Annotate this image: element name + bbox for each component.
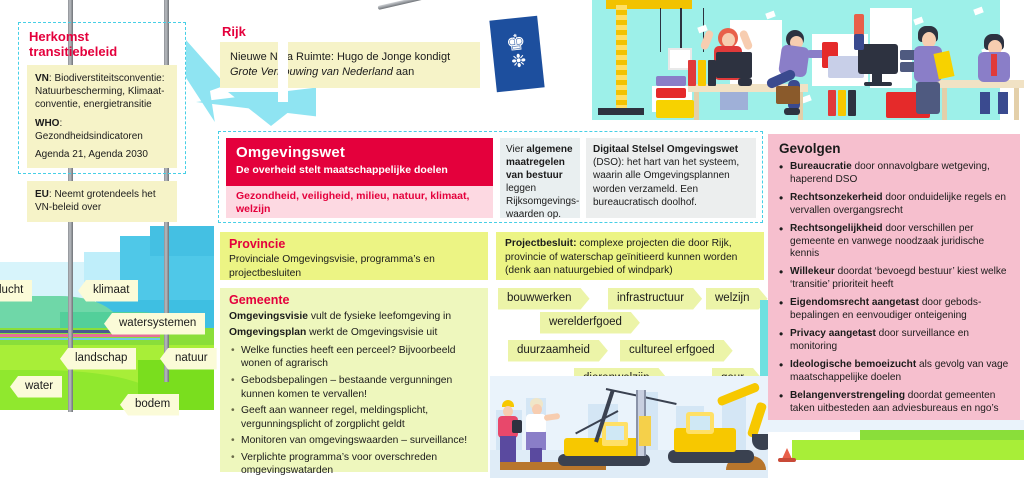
person-2-shoe-back <box>738 78 752 86</box>
provincie-title: Provincie <box>229 237 479 251</box>
omgevingswet-heading: Omgevingswet <box>236 144 483 161</box>
herkomst-agenda-line: Agenda 21, Agenda 2030 <box>35 148 169 161</box>
purple-binder <box>656 76 686 86</box>
omgevingswet-panel: Omgevingswet De overheid stelt maatschap… <box>226 138 493 186</box>
gemeente-bullet: Welke functies heeft een perceel? Bijvoo… <box>240 344 479 371</box>
gevolgen-item-label: Ideologische bemoeizucht <box>790 359 916 370</box>
theme-tag-cloud: bouwwerkeninfrastructuurwelzijnwerelderf… <box>496 288 764 388</box>
gemeente-bullet: Verplichte programma’s voor overschreden… <box>240 451 479 478</box>
gevolgen-item-label: Rechtsongelijkheid <box>790 223 883 234</box>
theme-tag: welzijn <box>706 288 768 310</box>
monitor-2-base <box>864 82 892 86</box>
crane-mast-icon <box>616 0 627 114</box>
gemeente-bullet: Geeft aan wanneer regel, meldingsplicht,… <box>240 404 479 431</box>
desk-leg-3 <box>942 88 947 120</box>
gemeente-lead-2: Omgevingsplan werkt de Omgevingsvisie ui… <box>229 326 479 340</box>
crane-cable-icon <box>680 8 682 50</box>
rijk-line-2-italic: Grote Verbouwing van Nederland <box>230 66 393 78</box>
lions-glyph: ❉ <box>510 51 525 70</box>
theme-tag: infrastructuur <box>608 288 702 310</box>
amvb-panel: Vier algemene maatregelen van bestuur le… <box>500 138 580 218</box>
yellow-crate-icon <box>656 100 694 118</box>
landscape-label: natuur <box>160 348 217 370</box>
binder-yellow <box>698 60 706 86</box>
who-label: WHO <box>35 118 59 129</box>
rijk-box: Nieuwe Nota Ruimte: Hugo de Jonge kondig… <box>220 42 480 88</box>
briefcase-icon <box>776 86 800 104</box>
monitor-1 <box>716 52 752 78</box>
rail-line-cyan <box>0 338 160 340</box>
vn-text: : Biodiverstiteitsconventie: Natuurbesch… <box>35 73 165 110</box>
netherlands-flag-icon: ♚ ❉ <box>489 16 544 93</box>
gevolgen-item: Privacy aangetast door surveillance en m… <box>779 328 1009 354</box>
omgevingswet-subheading: De overheid stelt maatschappelijke doele… <box>236 164 483 177</box>
excavator-cab-window <box>690 416 710 430</box>
theme-tag: duurzaamheid <box>508 340 608 362</box>
gevolgen-panel: Gevolgen Bureaucratie door onnavolgbare … <box>768 134 1020 422</box>
desk-leg-1 <box>694 92 699 120</box>
gevolgen-title: Gevolgen <box>779 141 1009 156</box>
omgevingswet-doelen: Gezondheid, veiligheid, milieu, natuur, … <box>226 186 493 218</box>
pile-hammer <box>639 416 651 446</box>
binder-dark <box>708 60 716 86</box>
person-1-face <box>722 33 735 47</box>
herkomst-vn-line: VN: Biodiverstiteitsconventie: Natuurbes… <box>35 72 169 112</box>
landscape-label: lucht <box>0 280 32 302</box>
herkomst-title: Herkomst transitiebeleid <box>29 29 177 59</box>
herkomst-block-2: EU: Neemt grotendeels het VN-beleid over <box>27 181 177 221</box>
amvb-post: leggen Rijksomgevings­waarden op. <box>506 183 579 220</box>
binder-red-2 <box>688 60 696 86</box>
landscape-label: klimaat <box>78 280 138 302</box>
monitor-2-stand <box>872 74 882 82</box>
amvb-pre: Vier <box>506 144 526 155</box>
vn-label: VN <box>35 73 49 84</box>
eu-text: : Neemt grotendeels het VN-beleid over <box>35 189 156 213</box>
flying-paper-4 <box>913 17 924 26</box>
dso-panel: Digitaal Stelsel Omgevingswet (DSO): het… <box>586 138 756 218</box>
crane-base-icon <box>598 108 644 115</box>
gevolgen-item: Bureaucratie door onnavolgbare wetgeving… <box>779 161 1009 187</box>
flagpole-icon <box>378 0 535 10</box>
person-2-shoe-front <box>784 108 800 115</box>
projectbesluit-panel: Projectbesluit: complexe projecten die d… <box>496 232 764 280</box>
omgevingsvisie-text: vult de fysieke leefomgeving in <box>308 311 451 322</box>
dso-rest: (DSO): het hart van het systeem, waarin … <box>593 157 739 208</box>
flying-paper-2 <box>765 11 776 20</box>
gevolgen-item: Belangenverstrengeling doordat gemeenten… <box>779 390 1009 416</box>
person-4-leg-2 <box>998 92 1008 114</box>
infographic-canvas: luchtklimaatwatersystemenlandschapnatuur… <box>0 0 1024 478</box>
landscape-label: watersystemen <box>104 313 205 335</box>
desk-leg-4 <box>1014 88 1019 120</box>
construction-machines-illustration <box>490 376 768 478</box>
person-3-legs <box>916 82 940 114</box>
rijk-line-2-rest: aan <box>393 66 414 78</box>
worker-1-clipboard <box>512 420 522 433</box>
gevolgen-item-label: Belangenverstrengeling <box>790 390 905 401</box>
construction-right-margin <box>278 0 288 102</box>
water-body-2 <box>150 226 214 256</box>
upright-folder-2 <box>854 34 864 50</box>
landscape-label: landschap <box>60 348 136 370</box>
rijk-line-1: Nieuwe Nota Ruimte: Hugo de Jonge kondig… <box>230 51 450 63</box>
gemeente-bullet-list: Welke functies heeft een perceel? Bijvoo… <box>229 344 479 478</box>
omgevingsplan-text: werkt de Omgevingsvisie uit <box>306 327 437 338</box>
landscape-label: water <box>10 376 62 398</box>
person-4-tie <box>991 54 997 76</box>
gevolgen-item: Ideologische bemoeizucht als gevolg van … <box>779 359 1009 385</box>
rijk-title: Rijk <box>222 24 246 39</box>
gevolgen-item-label: Privacy aangetast <box>790 328 876 339</box>
provincie-panel: Provincie Provinciale Omgevingsvisie, pr… <box>220 232 488 280</box>
gemeente-bullet: Gebodsbepalingen – bestaande vergunninge… <box>240 374 479 401</box>
dso-bold: Digitaal Stelsel Omgevingswet <box>593 144 738 155</box>
worker-1-legs <box>500 436 516 462</box>
red-binder <box>656 88 686 98</box>
binder-red-3 <box>828 90 836 116</box>
gevolgen-item-label: Willekeur <box>790 266 835 277</box>
herkomst-panel: Herkomst transitiebeleid VN: Biodiversti… <box>18 22 186 174</box>
gemeente-title: Gemeente <box>229 293 479 307</box>
traffic-cone-base <box>778 458 796 462</box>
theme-tag: bouwwerken <box>498 288 590 310</box>
flying-paper-5 <box>973 7 984 16</box>
herkomst-who-line: WHO: Gezondheidsindicatoren <box>35 117 169 143</box>
theme-tag: cultureel erfgoed <box>620 340 733 362</box>
gevolgen-item: Willekeur doordat ‘bevoegd bestuur’ kies… <box>779 266 1009 292</box>
gemeente-bullet: Monitoren van omgevingswaarden – surveil… <box>240 434 479 448</box>
worker-2-legs <box>530 448 542 462</box>
landscape-label: bodem <box>120 394 179 416</box>
omgevingsplan-label: Omgevingsplan <box>229 327 306 338</box>
monitor-2 <box>858 44 898 74</box>
herkomst-block-1: VN: Biodiverstiteitsconventie: Natuurbes… <box>27 65 177 168</box>
provincie-text: Provinciale Omgevingsvisie, programma’s … <box>229 253 479 280</box>
gevolgen-item: Rechtsongelijkheid door verschillen per … <box>779 223 1009 262</box>
person-1-legs <box>720 92 748 110</box>
upright-folder <box>854 14 864 36</box>
person-4-leg-1 <box>980 92 990 114</box>
bottom-white-band <box>0 410 214 478</box>
binder-yellow-2 <box>838 90 846 116</box>
gevolgen-item-label: Rechtsonzekerheid <box>790 192 883 203</box>
office-left-margin <box>570 0 592 120</box>
omgevingsvisie-label: Omgevingsvisie <box>229 311 308 322</box>
gevolgen-item-label: Bureaucratie <box>790 161 852 172</box>
eu-label: EU <box>35 189 49 200</box>
office-bureaucracy-illustration <box>570 0 1024 120</box>
bottom-strip-green <box>792 440 1024 460</box>
gevolgen-list: Bureaucratie door onnavolgbare wetgeving… <box>779 161 1009 446</box>
gemeente-panel: Gemeente Omgevingsvisie vult de fysieke … <box>220 288 488 472</box>
gemeente-lead-1: Omgevingsvisie vult de fysieke leefomgev… <box>229 310 479 324</box>
theme-tag: werelderfgoed <box>540 312 640 334</box>
projectbesluit-label: Projectbesluit: <box>505 238 577 249</box>
binder-dark-2 <box>848 90 856 116</box>
crane-cab-window <box>606 426 624 440</box>
gevolgen-item: Rechtsonzekerheid door onduidelijke rege… <box>779 192 1009 218</box>
gevolgen-item-label: Eigendomsrecht aangetast <box>790 297 919 308</box>
herkomst-eu-line: EU: Neemt grotendeels het VN-beleid over <box>35 188 169 214</box>
gevolgen-item: Eigendomsrecht aangetast door gebods-bep… <box>779 297 1009 323</box>
